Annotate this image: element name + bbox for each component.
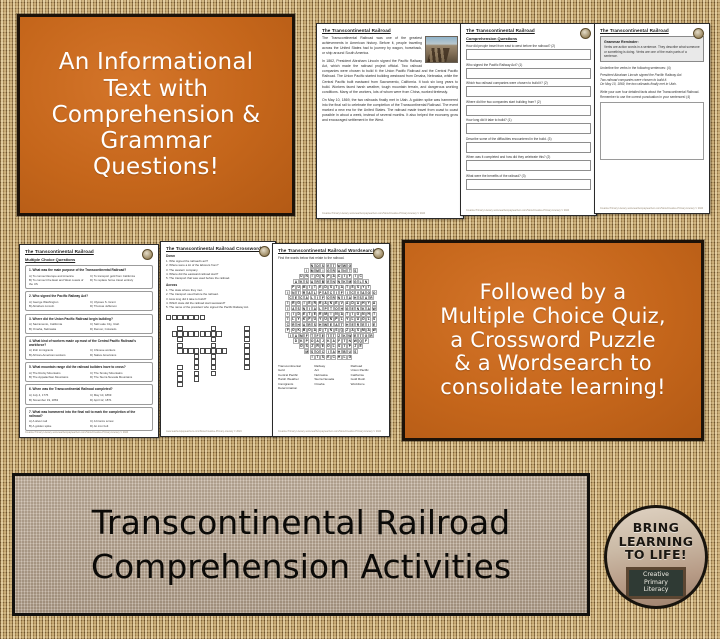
- crossword-cell[interactable]: [177, 331, 182, 336]
- wordsearch-cell[interactable]: R: [318, 301, 323, 306]
- wordsearch-cell[interactable]: N: [291, 290, 296, 295]
- mcq-option[interactable]: A) Irish immigrants: [29, 348, 88, 352]
- wordsearch-cell[interactable]: R: [318, 312, 323, 317]
- wordsearch-cell[interactable]: U: [355, 317, 360, 322]
- wordsearch-cell[interactable]: Q: [358, 338, 363, 343]
- wordsearch-cell[interactable]: N: [310, 263, 315, 268]
- wordsearch-cell[interactable]: T: [310, 333, 315, 338]
- wordsearch-cell[interactable]: J: [310, 344, 315, 349]
- wordsearch-cell[interactable]: L: [350, 317, 355, 322]
- wordsearch-cell[interactable]: G: [345, 306, 350, 311]
- mcq-option[interactable]: A) Sacramento, California: [29, 322, 88, 326]
- answer-box[interactable]: [466, 49, 591, 60]
- wordsearch-cell[interactable]: L: [339, 317, 344, 322]
- crossword-cell[interactable]: [244, 331, 249, 336]
- wordsearch-cell[interactable]: H: [339, 306, 344, 311]
- wordsearch-cell[interactable]: E: [318, 285, 323, 290]
- wordsearch-cell[interactable]: F: [285, 328, 290, 333]
- crossword-cell[interactable]: [211, 337, 216, 342]
- crossword-cell[interactable]: [211, 371, 216, 376]
- wordsearch-cell[interactable]: I: [307, 306, 312, 311]
- wordsearch-cell[interactable]: E: [358, 344, 363, 349]
- mcq-option[interactable]: C) Ulysses S. Grant: [90, 300, 149, 304]
- crossword-cell[interactable]: [177, 315, 182, 320]
- mcq-option[interactable]: D) The Sierra Nevada Mountains: [90, 375, 149, 379]
- wordsearch-cell[interactable]: G: [347, 263, 352, 268]
- wordsearch-cell[interactable]: Y: [296, 317, 301, 322]
- wordsearch-cell[interactable]: R: [315, 344, 320, 349]
- wordsearch-cell[interactable]: W: [342, 263, 347, 268]
- wordsearch-cell[interactable]: E: [328, 322, 333, 327]
- wordsearch-cell[interactable]: G: [326, 268, 331, 273]
- wordsearch-cell[interactable]: P: [318, 290, 323, 295]
- wordsearch-cell[interactable]: K: [326, 338, 331, 343]
- wordsearch-cell[interactable]: O: [291, 328, 296, 333]
- wordsearch-cell[interactable]: Y: [345, 317, 350, 322]
- worksheet-preview-reading-passage[interactable]: The Transcontinental Railroad The Transc…: [316, 23, 464, 219]
- crossword-cell[interactable]: [211, 326, 216, 331]
- wordsearch-cell[interactable]: T: [342, 338, 347, 343]
- wordsearch-cell[interactable]: G: [296, 301, 301, 306]
- wordsearch-cell[interactable]: R: [291, 322, 296, 327]
- wordsearch-cell[interactable]: N: [337, 279, 342, 284]
- wordsearch-cell[interactable]: Y: [361, 285, 366, 290]
- wordsearch-cell[interactable]: F: [347, 274, 352, 279]
- crossword-cell[interactable]: [244, 348, 249, 353]
- wordsearch-cell[interactable]: R: [331, 268, 336, 273]
- wordsearch-cell[interactable]: I: [315, 295, 320, 300]
- wordsearch-cell[interactable]: W: [353, 338, 358, 343]
- mcq-option[interactable]: D) Denver, Colorado: [90, 327, 149, 331]
- wordsearch-cell[interactable]: I: [366, 322, 371, 327]
- wordsearch-cell[interactable]: A: [350, 328, 355, 333]
- wordsearch-cell[interactable]: S: [328, 285, 333, 290]
- crossword-cell[interactable]: [211, 354, 216, 359]
- wordsearch-cell[interactable]: F: [339, 290, 344, 295]
- crossword-cell[interactable]: [205, 348, 210, 353]
- crossword-cell[interactable]: [177, 348, 182, 353]
- wordsearch-cell[interactable]: W: [372, 328, 377, 333]
- crossword-cell[interactable]: [172, 331, 177, 336]
- wordsearch-cell[interactable]: I: [285, 290, 290, 295]
- wordsearch-cell[interactable]: Y: [366, 301, 371, 306]
- crossword-cell[interactable]: [177, 365, 182, 370]
- wordsearch-cell[interactable]: V: [355, 290, 360, 295]
- wordsearch-cell[interactable]: E: [350, 322, 355, 327]
- crossword-cell[interactable]: [211, 348, 216, 353]
- wordsearch-cell[interactable]: P: [291, 285, 296, 290]
- wordsearch-cell[interactable]: H: [337, 349, 342, 354]
- wordsearch-cell[interactable]: I: [291, 312, 296, 317]
- wordsearch-cell[interactable]: V: [339, 301, 344, 306]
- wordsearch-cell[interactable]: D: [323, 285, 328, 290]
- wordsearch-cell[interactable]: T: [312, 285, 317, 290]
- wordsearch-cell[interactable]: I: [304, 268, 309, 273]
- wordsearch-cell[interactable]: B: [302, 328, 307, 333]
- wordsearch-cell[interactable]: O: [299, 344, 304, 349]
- wordsearch-cell[interactable]: N: [328, 328, 333, 333]
- wordsearch-cell[interactable]: J: [353, 344, 358, 349]
- crossword-cell[interactable]: [194, 348, 199, 353]
- wordsearch-cell[interactable]: A: [361, 290, 366, 295]
- wordsearch-cell[interactable]: I: [288, 333, 293, 338]
- wordsearch-cell[interactable]: N: [302, 306, 307, 311]
- wordsearch-cell[interactable]: T: [331, 333, 336, 338]
- mcq-option[interactable]: B) To connect the East and West coasts o…: [29, 278, 88, 286]
- crossword-cell[interactable]: [205, 331, 210, 336]
- wordsearch-cell[interactable]: M: [347, 279, 352, 284]
- crossword-cell[interactable]: [194, 365, 199, 370]
- wordsearch-cell[interactable]: Z: [345, 328, 350, 333]
- wordsearch-cell[interactable]: G: [347, 355, 352, 360]
- mcq-option[interactable]: A) The Rocky Mountains: [29, 371, 88, 375]
- mcq-item[interactable]: 2. Who signed the Pacific Railway Act?A)…: [25, 291, 153, 311]
- answer-box[interactable]: [466, 160, 591, 171]
- wordsearch-cell[interactable]: E: [302, 312, 307, 317]
- crossword-cell[interactable]: [244, 337, 249, 342]
- wordsearch-cell[interactable]: I: [285, 306, 290, 311]
- wordsearch-cell[interactable]: E: [350, 285, 355, 290]
- wordsearch-cell[interactable]: C: [285, 322, 290, 327]
- wordsearch-cell[interactable]: L: [331, 344, 336, 349]
- wordsearch-cell[interactable]: T: [296, 290, 301, 295]
- wordsearch-cell[interactable]: C: [320, 349, 325, 354]
- wordsearch-cell[interactable]: C: [337, 274, 342, 279]
- wordsearch-cell[interactable]: H: [296, 322, 301, 327]
- wordsearch-cell[interactable]: M: [315, 268, 320, 273]
- crossword-cell[interactable]: [177, 343, 182, 348]
- mcq-option[interactable]: D) To replace horse travel entirely: [90, 278, 149, 286]
- wordsearch-cell[interactable]: A: [339, 312, 344, 317]
- wordsearch-cell[interactable]: A: [347, 295, 352, 300]
- wordsearch-cell[interactable]: S: [358, 295, 363, 300]
- wordsearch-cell[interactable]: M: [310, 268, 315, 273]
- wordsearch-cell[interactable]: N: [342, 268, 347, 273]
- crossword-cell[interactable]: [211, 365, 216, 370]
- wordsearch-cell[interactable]: T: [339, 322, 344, 327]
- mcq-option[interactable]: D) April 12, 1871: [90, 398, 149, 402]
- wordsearch-cell[interactable]: T: [345, 285, 350, 290]
- wordsearch-cell[interactable]: O: [361, 317, 366, 322]
- crossword-cell[interactable]: [200, 315, 205, 320]
- wordsearch-cell[interactable]: T: [328, 306, 333, 311]
- wordsearch-cell[interactable]: Y: [318, 317, 323, 322]
- wordsearch-cell[interactable]: R: [312, 301, 317, 306]
- wordsearch-cell[interactable]: D: [296, 312, 301, 317]
- wordsearch-cell[interactable]: A: [366, 306, 371, 311]
- mcq-option[interactable]: C) Salt Lake City, Utah: [90, 322, 149, 326]
- crossword-cell[interactable]: [177, 371, 182, 376]
- wordsearch-cell[interactable]: T: [345, 312, 350, 317]
- wordsearch-cell[interactable]: Q: [339, 328, 344, 333]
- wordsearch-cell[interactable]: C: [288, 295, 293, 300]
- crossword-cell[interactable]: [216, 331, 221, 336]
- wordsearch-cell[interactable]: O: [310, 338, 315, 343]
- wordsearch-cell[interactable]: C: [350, 290, 355, 295]
- wordsearch-cell[interactable]: A: [291, 306, 296, 311]
- mcq-item[interactable]: 3. Where did the Union Pacific Railroad …: [25, 314, 153, 334]
- mcq-option[interactable]: C) May 10, 1869: [90, 393, 149, 397]
- wordsearch-cell[interactable]: K: [342, 333, 347, 338]
- crossword-cell[interactable]: [177, 382, 182, 387]
- wordsearch-cell[interactable]: I: [350, 312, 355, 317]
- wordsearch-cell[interactable]: F: [337, 338, 342, 343]
- crossword-cell[interactable]: [244, 343, 249, 348]
- wordsearch-cell[interactable]: N: [337, 295, 342, 300]
- answer-box[interactable]: [466, 105, 591, 116]
- wordsearch-cell[interactable]: N: [320, 274, 325, 279]
- wordsearch-cell[interactable]: P: [347, 344, 352, 349]
- wordsearch-cell[interactable]: A: [312, 328, 317, 333]
- crossword-cell[interactable]: [183, 348, 188, 353]
- wordsearch-cell[interactable]: R: [369, 295, 374, 300]
- crossword-cell[interactable]: [211, 343, 216, 348]
- crossword-cell[interactable]: [172, 315, 177, 320]
- worksheet-preview-multiple-choice-quiz[interactable]: The Transcontinental Railroad Multiple C…: [19, 244, 159, 438]
- wordsearch-cell[interactable]: P: [304, 338, 309, 343]
- wordsearch-cell[interactable]: T: [323, 328, 328, 333]
- wordsearch-cell[interactable]: E: [320, 344, 325, 349]
- wordsearch-cell[interactable]: A: [372, 301, 377, 306]
- wordsearch-cell[interactable]: Z: [337, 333, 342, 338]
- wordsearch-cell[interactable]: D: [350, 301, 355, 306]
- wordsearch-cell[interactable]: S: [312, 322, 317, 327]
- wordsearch-cell[interactable]: A: [331, 349, 336, 354]
- wordsearch-cell[interactable]: A: [323, 301, 328, 306]
- mcq-option[interactable]: D) Thomas Jefferson: [90, 304, 149, 308]
- wordsearch-cell[interactable]: B: [342, 349, 347, 354]
- mcq-item[interactable]: 7. What was hammered into the final rail…: [25, 407, 153, 431]
- mcq-option[interactable]: B) Omaha, Nebraska: [29, 327, 88, 331]
- mcq-option[interactable]: A) George Washington: [29, 300, 88, 304]
- wordsearch-cell[interactable]: U: [296, 285, 301, 290]
- wordsearch-cell[interactable]: T: [331, 263, 336, 268]
- crossword-cell[interactable]: [177, 337, 182, 342]
- wordsearch-cell[interactable]: T: [366, 285, 371, 290]
- wordsearch-cell[interactable]: S: [355, 285, 360, 290]
- wordsearch-cell[interactable]: O: [307, 328, 312, 333]
- answer-box[interactable]: [466, 179, 591, 190]
- worksheet-preview-crossword[interactable]: The Transcontinental Railroad Crossword …: [160, 241, 276, 437]
- wordsearch-cell[interactable]: L: [358, 279, 363, 284]
- mcq-option[interactable]: C) A bronze screw: [90, 419, 149, 423]
- wordsearch-cell[interactable]: I: [310, 274, 315, 279]
- wordsearch-cell[interactable]: U: [347, 349, 352, 354]
- wordsearch-cell[interactable]: I: [334, 290, 339, 295]
- wordsearch-cell[interactable]: P: [326, 274, 331, 279]
- mcq-option[interactable]: B) African-American workers: [29, 353, 88, 357]
- wordsearch-cell[interactable]: D: [318, 328, 323, 333]
- answer-box[interactable]: [466, 68, 591, 79]
- wordsearch-cell[interactable]: S: [310, 349, 315, 354]
- wordsearch-cell[interactable]: I: [353, 274, 358, 279]
- wordsearch-cell[interactable]: O: [315, 349, 320, 354]
- wordsearch-cell[interactable]: W: [337, 263, 342, 268]
- wordsearch-cell[interactable]: N: [334, 312, 339, 317]
- mcq-option[interactable]: B) A golden spike: [29, 424, 88, 428]
- wordsearch-cell[interactable]: L: [312, 290, 317, 295]
- wordsearch-cell[interactable]: H: [353, 295, 358, 300]
- wordsearch-cell[interactable]: O: [326, 295, 331, 300]
- mcq-option[interactable]: A) To connect Europe and America: [29, 274, 88, 278]
- wordsearch-cell[interactable]: O: [372, 290, 377, 295]
- wordsearch-cell[interactable]: T: [347, 268, 352, 273]
- wordsearch-cell[interactable]: I: [310, 355, 315, 360]
- wordsearch-cell[interactable]: G: [363, 333, 368, 338]
- crossword-cell[interactable]: [194, 315, 199, 320]
- crossword-cell[interactable]: [183, 331, 188, 336]
- crossword-cell[interactable]: [194, 376, 199, 381]
- wordsearch-cell[interactable]: N: [355, 306, 360, 311]
- wordsearch-cell[interactable]: I: [326, 349, 331, 354]
- wordsearch-cell[interactable]: A: [337, 268, 342, 273]
- wordsearch-cell[interactable]: N: [304, 274, 309, 279]
- wordsearch-cell[interactable]: T: [326, 333, 331, 338]
- mcq-option[interactable]: D) An iron bolt: [90, 424, 149, 428]
- wordsearch-cell[interactable]: B: [320, 279, 325, 284]
- wordsearch-cell[interactable]: A: [304, 295, 309, 300]
- mcq-item[interactable]: 4. What kind of workers made up most of …: [25, 336, 153, 360]
- wordsearch-cell[interactable]: A: [345, 301, 350, 306]
- wordsearch-cell[interactable]: G: [353, 279, 358, 284]
- wordsearch-cell[interactable]: M: [323, 312, 328, 317]
- crossword-cell[interactable]: [177, 376, 182, 381]
- wordsearch-cell[interactable]: G: [366, 290, 371, 295]
- wordsearch-cell[interactable]: S: [372, 317, 377, 322]
- wordsearch-cell[interactable]: S: [334, 328, 339, 333]
- wordsearch-cell[interactable]: J: [320, 338, 325, 343]
- wordsearch-cell[interactable]: F: [320, 295, 325, 300]
- mcq-item[interactable]: 6. When was the Transcontinental Railroa…: [25, 384, 153, 404]
- wordsearch-cell[interactable]: H: [345, 322, 350, 327]
- wordsearch-cell[interactable]: S: [296, 306, 301, 311]
- wordsearch-cell[interactable]: R: [331, 295, 336, 300]
- wordsearch-cell[interactable]: I: [285, 317, 290, 322]
- worksheet-preview-wordsearch[interactable]: The Transcontinental Railroad Wordsearch…: [272, 243, 390, 437]
- crossword-cell[interactable]: [244, 326, 249, 331]
- wordsearch-cell[interactable]: K: [299, 338, 304, 343]
- wordsearch-cell[interactable]: A: [302, 322, 307, 327]
- wordsearch-cell[interactable]: H: [366, 312, 371, 317]
- wordsearch-cell[interactable]: N: [331, 279, 336, 284]
- wordsearch-cell[interactable]: S: [304, 344, 309, 349]
- mcq-option[interactable]: A) July 4, 1776: [29, 393, 88, 397]
- wordsearch-cell[interactable]: M: [361, 328, 366, 333]
- mcq-option[interactable]: C) The Smoky Mountains: [90, 371, 149, 375]
- wordsearch-cell[interactable]: A: [312, 306, 317, 311]
- wordsearch-cell[interactable]: E: [326, 263, 331, 268]
- wordsearch-cell[interactable]: O: [326, 344, 331, 349]
- wordsearch-cell[interactable]: A: [307, 290, 312, 295]
- wordsearch-cell[interactable]: W: [323, 322, 328, 327]
- wordsearch-cell[interactable]: M: [302, 285, 307, 290]
- crossword-cell[interactable]: [244, 359, 249, 364]
- wordsearch-cell[interactable]: F: [363, 338, 368, 343]
- wordsearch-grid[interactable]: NDSETWWGIMMIGRANTSUNIONPACIFICAKSARBENNK…: [278, 263, 384, 360]
- mcq-item[interactable]: 5. What mountain range did the railroad …: [25, 362, 153, 382]
- crossword-cell[interactable]: [216, 348, 221, 353]
- wordsearch-cell[interactable]: O: [315, 274, 320, 279]
- wordsearch-cell[interactable]: A: [331, 338, 336, 343]
- crossword-cell[interactable]: [194, 371, 199, 376]
- crossword-cell[interactable]: [188, 331, 193, 336]
- crossword-cell[interactable]: [194, 359, 199, 364]
- wordsearch-cell[interactable]: R: [315, 279, 320, 284]
- crossword-cell[interactable]: [200, 348, 205, 353]
- wordsearch-cell[interactable]: N: [363, 279, 368, 284]
- wordsearch-cell[interactable]: E: [320, 333, 325, 338]
- wordsearch-cell[interactable]: A: [363, 295, 368, 300]
- crossword-cell[interactable]: [166, 315, 171, 320]
- wordsearch-cell[interactable]: K: [299, 279, 304, 284]
- wordsearch-cell[interactable]: C: [358, 274, 363, 279]
- wordsearch-cell[interactable]: E: [372, 322, 377, 327]
- wordsearch-cell[interactable]: I: [307, 285, 312, 290]
- wordsearch-cell[interactable]: T: [334, 285, 339, 290]
- wordsearch-cell[interactable]: M: [299, 333, 304, 338]
- wordsearch-cell[interactable]: E: [293, 295, 298, 300]
- wordsearch-cell[interactable]: N: [328, 301, 333, 306]
- wordsearch-cell[interactable]: S: [353, 268, 358, 273]
- wordsearch-cell[interactable]: I: [285, 301, 290, 306]
- wordsearch-cell[interactable]: W: [372, 306, 377, 311]
- wordsearch-cell[interactable]: H: [337, 355, 342, 360]
- wordsearch-cell[interactable]: L: [342, 355, 347, 360]
- wordsearch-cell[interactable]: E: [326, 355, 331, 360]
- crossword-cell[interactable]: [244, 365, 249, 370]
- brand-logo-badge[interactable]: BRING LEARNING TO LIFE! Creative Primary…: [604, 505, 708, 609]
- wordsearch-cell[interactable]: S: [304, 279, 309, 284]
- wordsearch-cell[interactable]: I: [345, 290, 350, 295]
- answer-box[interactable]: [466, 142, 591, 153]
- crossword-cell[interactable]: [200, 331, 205, 336]
- wordsearch-cell[interactable]: A: [366, 328, 371, 333]
- mcq-option[interactable]: B) The Appalachian Mountains: [29, 375, 88, 379]
- wordsearch-cell[interactable]: O: [355, 312, 360, 317]
- crossword-cell[interactable]: [194, 331, 199, 336]
- wordsearch-cell[interactable]: U: [323, 317, 328, 322]
- wordsearch-cell[interactable]: N: [361, 312, 366, 317]
- wordsearch-cell[interactable]: I: [320, 268, 325, 273]
- wordsearch-cell[interactable]: I: [342, 344, 347, 349]
- mcq-option[interactable]: C) Chinese workers: [90, 348, 149, 352]
- wordsearch-cell[interactable]: I: [285, 312, 290, 317]
- wordsearch-cell[interactable]: A: [315, 338, 320, 343]
- wordsearch-cell[interactable]: L: [291, 317, 296, 322]
- wordsearch-cell[interactable]: E: [334, 301, 339, 306]
- wordsearch-cell[interactable]: S: [337, 344, 342, 349]
- wordsearch-cell[interactable]: W: [347, 333, 352, 338]
- crossword-cell[interactable]: [244, 354, 249, 359]
- wordsearch-cell[interactable]: I: [302, 301, 307, 306]
- wordsearch-cell[interactable]: C: [331, 355, 336, 360]
- answer-box[interactable]: [466, 123, 591, 134]
- wordsearch-cell[interactable]: S: [320, 263, 325, 268]
- wordsearch-cell[interactable]: O: [334, 306, 339, 311]
- wordsearch-cell[interactable]: R: [307, 322, 312, 327]
- wordsearch-cell[interactable]: K: [296, 328, 301, 333]
- grammar-answer-box[interactable]: [600, 102, 704, 160]
- wordsearch-cell[interactable]: K: [302, 317, 307, 322]
- wordsearch-cell[interactable]: D: [293, 338, 298, 343]
- wordsearch-cell[interactable]: A: [334, 322, 339, 327]
- wordsearch-cell[interactable]: S: [320, 355, 325, 360]
- wordsearch-cell[interactable]: E: [350, 306, 355, 311]
- crossword-cell[interactable]: [211, 331, 216, 336]
- wordsearch-cell[interactable]: I: [342, 274, 347, 279]
- mcq-option[interactable]: A) A silver nail: [29, 419, 88, 423]
- mcq-option[interactable]: D) Native Americans: [90, 353, 149, 357]
